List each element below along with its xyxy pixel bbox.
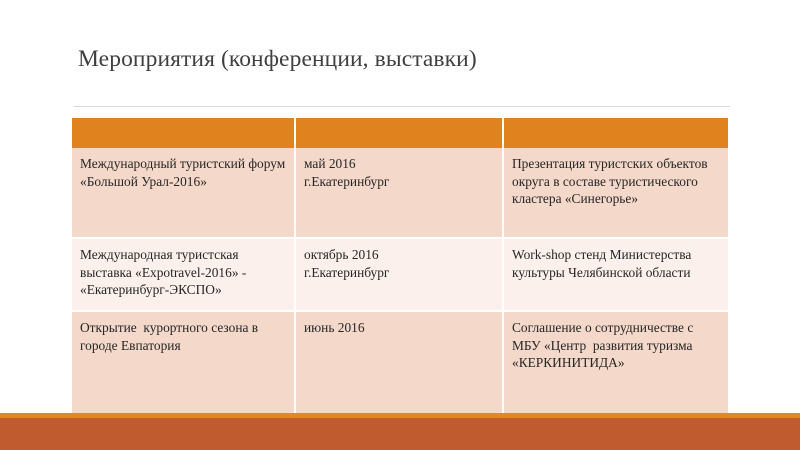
column-header-event	[72, 118, 295, 148]
table-row: Международный туристский форум «Большой …	[72, 148, 728, 238]
cell-description: Work-shop стенд Министерства культуры Че…	[503, 238, 728, 311]
slide-canvas: Мероприятия (конференции, выставки) Межд…	[0, 0, 800, 450]
footer-band	[0, 418, 800, 450]
cell-description: Презентация туристских объектов округа в…	[503, 148, 728, 238]
page-title: Мероприятия (конференции, выставки)	[78, 44, 738, 74]
cell-description: Соглашение о сотрудничестве с МБУ «Центр…	[503, 311, 728, 414]
column-header-date-place	[295, 118, 503, 148]
table-header	[72, 118, 728, 148]
cell-date-place: июнь 2016	[295, 311, 503, 414]
cell-date-place: май 2016 г.Екатеринбург	[295, 148, 503, 238]
title-divider	[74, 106, 730, 107]
table-row: Международная туристская выставка «Expot…	[72, 238, 728, 311]
column-header-description	[503, 118, 728, 148]
table-body: Международный туристский форум «Большой …	[72, 148, 728, 414]
cell-date-place: октябрь 2016 г.Екатеринбург	[295, 238, 503, 311]
table-row: Открытие курортного сезона в городе Евпа…	[72, 311, 728, 414]
events-table: Международный туристский форум «Большой …	[72, 118, 728, 414]
table-header-row	[72, 118, 728, 148]
cell-event: Открытие курортного сезона в городе Евпа…	[72, 311, 295, 414]
cell-event: Международная туристская выставка «Expot…	[72, 238, 295, 311]
cell-event: Международный туристский форум «Большой …	[72, 148, 295, 238]
